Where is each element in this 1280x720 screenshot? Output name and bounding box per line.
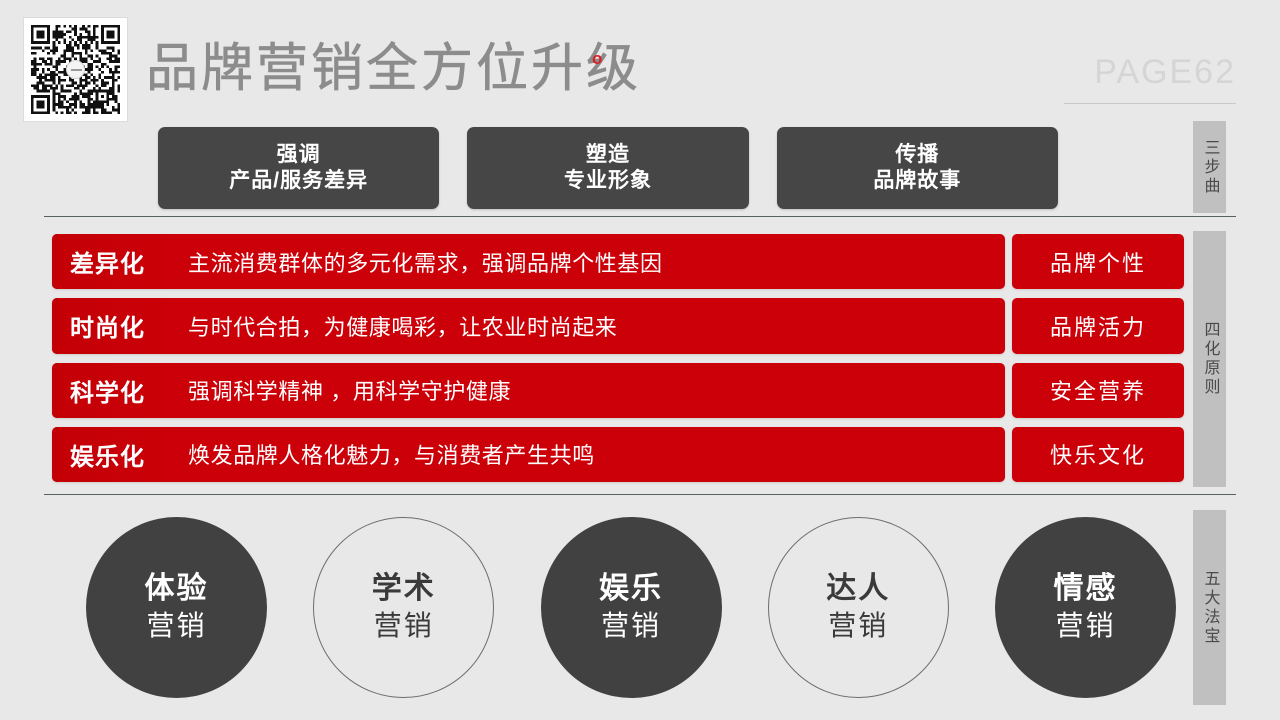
marketing-circle-4[interactable]: 达人 营销: [768, 517, 949, 698]
principle-tag-2[interactable]: 品牌活力: [1012, 298, 1184, 353]
principle-key-4: 娱乐化: [52, 427, 184, 482]
slide-root: 品牌营销全方位升级 o PAGE62 强调 产品/服务差异 塑造 专业形象 传播…: [0, 0, 1280, 720]
principle-row: 差异化 主流消费群体的多元化需求，强调品牌个性基因 品牌个性: [52, 234, 1184, 289]
marketing-circle-3-line1: 娱乐: [599, 572, 663, 607]
marketing-circle-3-line2: 营销: [601, 610, 661, 642]
page-title: 品牌营销全方位升级: [146, 38, 641, 100]
principle-key-2: 时尚化: [52, 298, 184, 353]
marketing-circle-1-line2: 营销: [146, 610, 206, 642]
principle-key-3: 科学化: [52, 363, 184, 418]
qr-code-icon[interactable]: [24, 18, 127, 121]
marketing-circle-2[interactable]: 学术 营销: [313, 517, 494, 698]
marketing-circle-3[interactable]: 娱乐 营销: [541, 517, 722, 698]
step-box-3-line2: 品牌故事: [873, 169, 961, 193]
principles-list: 差异化 主流消费群体的多元化需求，强调品牌个性基因 品牌个性 时尚化 与时代合拍…: [52, 234, 1184, 482]
principle-bar-2[interactable]: 时尚化 与时代合拍，为健康喝彩，让农业时尚起来: [52, 298, 1005, 353]
step-box-1[interactable]: 强调 产品/服务差异: [158, 127, 439, 209]
principle-key-1: 差异化: [52, 234, 184, 289]
principle-bar-4[interactable]: 娱乐化 焕发品牌人格化魅力，与消费者产生共鸣: [52, 427, 1005, 482]
marketing-circle-5[interactable]: 情感 营销: [995, 517, 1176, 698]
principle-bar-3[interactable]: 科学化 强调科学精神 ，用科学守护健康: [52, 363, 1005, 418]
marketing-circle-1[interactable]: 体验 营销: [86, 517, 267, 698]
marketing-circle-2-line1: 学术: [372, 572, 436, 607]
qr-code-canvas: [31, 25, 120, 114]
principle-row: 时尚化 与时代合拍，为健康喝彩，让农业时尚起来 品牌活力: [52, 298, 1184, 353]
step-box-2-line2: 专业形象: [564, 169, 652, 193]
principle-desc-3: 强调科学精神 ，用科学守护健康: [184, 374, 511, 406]
marketing-circle-5-line1: 情感: [1054, 572, 1118, 607]
step-box-1-line2: 产品/服务差异: [229, 169, 368, 193]
principle-desc-4: 焕发品牌人格化魅力，与消费者产生共鸣: [184, 438, 595, 470]
principle-desc-2: 与时代合拍，为健康喝彩，让农业时尚起来: [184, 310, 617, 342]
principle-row: 娱乐化 焕发品牌人格化魅力，与消费者产生共鸣 快乐文化: [52, 427, 1184, 482]
step-box-2[interactable]: 塑造 专业形象: [467, 127, 748, 209]
principle-tag-1[interactable]: 品牌个性: [1012, 234, 1184, 289]
marketing-circles: 体验 营销 学术 营销 娱乐 营销 达人 营销 情感 营销: [86, 515, 1176, 700]
divider-bottom: [44, 494, 1236, 495]
vertical-label-principles: 四化原则: [1193, 231, 1226, 487]
vertical-label-marketing: 五大法宝: [1193, 510, 1226, 705]
page-number: PAGE62: [1094, 52, 1236, 92]
marketing-circle-5-line2: 营销: [1055, 610, 1115, 642]
title-superscript: o: [592, 50, 602, 67]
marketing-circle-4-line2: 营销: [828, 610, 888, 642]
principle-tag-3[interactable]: 安全营养: [1012, 363, 1184, 418]
steps-row: 强调 产品/服务差异 塑造 专业形象 传播 品牌故事: [158, 127, 1058, 209]
qr-center-logo-icon: [66, 60, 85, 79]
marketing-circle-2-line2: 营销: [374, 610, 434, 642]
principle-tag-4[interactable]: 快乐文化: [1012, 427, 1184, 482]
divider-top: [44, 216, 1236, 217]
step-box-3-line1: 传播: [895, 143, 939, 167]
principle-desc-1: 主流消费群体的多元化需求，强调品牌个性基因: [184, 246, 663, 278]
principle-bar-1[interactable]: 差异化 主流消费群体的多元化需求，强调品牌个性基因: [52, 234, 1005, 289]
marketing-circle-1-line1: 体验: [145, 572, 209, 607]
step-box-3[interactable]: 传播 品牌故事: [777, 127, 1058, 209]
principle-row: 科学化 强调科学精神 ，用科学守护健康 安全营养: [52, 363, 1184, 418]
marketing-circle-4-line1: 达人: [826, 572, 890, 607]
step-box-2-line1: 塑造: [586, 143, 630, 167]
step-box-1-line1: 强调: [277, 143, 321, 167]
page-number-rule: [1064, 103, 1236, 104]
vertical-label-steps: 三步曲: [1193, 121, 1226, 213]
